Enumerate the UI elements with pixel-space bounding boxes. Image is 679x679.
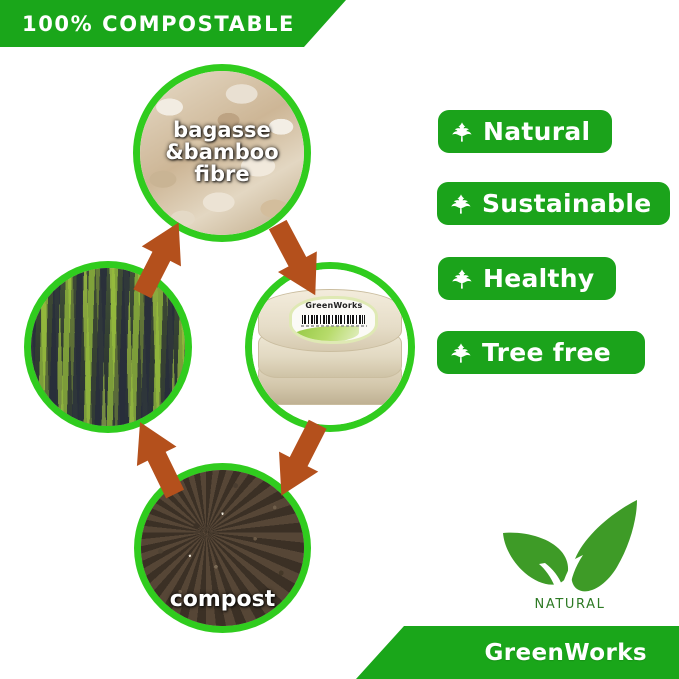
infographic-canvas: 100% COMPOSTABLE bagasse &bamboo fibre G…	[0, 0, 679, 679]
leaf-icon	[449, 192, 473, 216]
brand-logo: NATURAL	[487, 497, 653, 612]
cycle-node-compost-caption: compost	[170, 589, 276, 612]
brand-logo-caption: NATURAL	[487, 597, 653, 612]
feature-badge-sustainable[interactable]: Sustainable	[437, 182, 670, 225]
cycle-node-bagasse-caption: bagasse &bamboo fibre	[165, 120, 278, 185]
arrow-bagasse-to-product-icon	[246, 212, 346, 307]
two-leaves-icon	[487, 497, 653, 597]
label-fine-print	[301, 325, 367, 327]
leaf-icon	[450, 267, 474, 291]
feature-badge-sustainable-label: Sustainable	[482, 189, 651, 218]
top-banner-label: 100% COMPOSTABLE	[0, 12, 295, 36]
bottom-banner: GreenWorks	[356, 626, 679, 679]
bottom-banner-brand: GreenWorks	[485, 640, 679, 666]
feature-badge-healthy-label: Healthy	[483, 264, 594, 293]
feature-badge-natural-label: Natural	[483, 117, 590, 146]
barcode-icon	[302, 315, 365, 323]
feature-badge-healthy[interactable]: Healthy	[438, 257, 616, 300]
arrow-sugarcane-to-bagasse-icon	[110, 212, 210, 307]
feature-badge-natural[interactable]: Natural	[438, 110, 612, 153]
feature-badge-tree-free[interactable]: Tree free	[437, 331, 645, 374]
arrow-product-to-compost-icon	[250, 412, 350, 507]
top-banner: 100% COMPOSTABLE	[0, 0, 346, 47]
leaf-icon	[449, 341, 473, 365]
label-leaf-graphic	[289, 326, 358, 344]
feature-badge-tree-free-label: Tree free	[482, 338, 611, 367]
arrow-compost-to-sugarcane-icon	[108, 412, 208, 507]
leaf-icon	[450, 120, 474, 144]
